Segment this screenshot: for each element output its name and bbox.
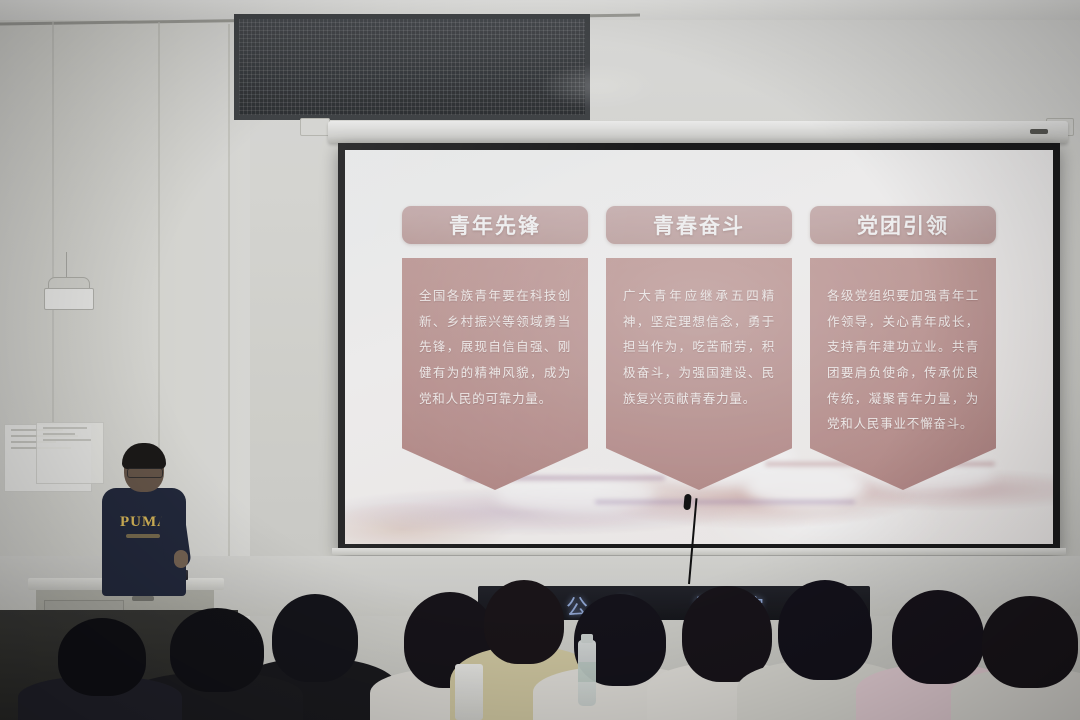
card-body-panel: 全国各族青年要在科技创新、乡村振兴等领域勇当先锋，展现自信自强、刚健有为的精神风… [402, 258, 588, 490]
slide-card: 青年先锋 全国各族青年要在科技创新、乡村振兴等领域勇当先锋，展现自信自强、刚健有… [402, 206, 588, 544]
screen-housing-knob [1030, 129, 1048, 134]
presenter: PUMA [96, 446, 188, 596]
emergency-light-cord [66, 252, 67, 278]
presentation-slide: 青年先锋 全国各族青年要在科技创新、乡村振兴等领域勇当先锋，展现自信自强、刚健有… [345, 150, 1053, 544]
card-heading-banner: 青春奋斗 [606, 206, 792, 244]
card-body-text: 全国各族青年要在科技创新、乡村振兴等领域勇当先锋，展现自信自强、刚健有为的精神风… [402, 258, 588, 458]
wall-seam-left [52, 22, 54, 452]
card-body-text: 广大青年应继承五四精神，坚定理想信念，勇于担当作为，吃苦耐劳，积极奋斗，为强国建… [606, 258, 792, 458]
card-heading-text: 青春奋斗 [653, 210, 745, 240]
card-heading-text: 党团引领 [857, 210, 949, 240]
wall-seam-mid [158, 22, 160, 452]
presenter-hand [174, 550, 188, 568]
wall-notice-right [36, 422, 104, 484]
card-body-text: 各级党组织要加强青年工作领导，关心青年成长，支持青年建功立业。共青团要肩负使命，… [810, 258, 996, 484]
card-heading-banner: 青年先锋 [402, 206, 588, 244]
wall-corner [228, 24, 230, 584]
lectern-handle [132, 596, 154, 601]
projection-screen: 青年先锋 全国各族青年要在科技创新、乡村振兴等领域勇当先锋，展现自信自强、刚健有… [338, 143, 1060, 551]
screen-bottom-bar [332, 548, 1066, 555]
audience-member [972, 602, 1080, 720]
slide-card-row: 青年先锋 全国各族青年要在科技创新、乡村振兴等领域勇当先锋，展现自信自强、刚健有… [345, 150, 1053, 544]
slide-card: 青春奋斗 广大青年应继承五四精神，坚定理想信念，勇于担当作为，吃苦耐劳，积极奋斗… [606, 206, 792, 544]
card-body-panel: 广大青年应继承五四精神，坚定理想信念，勇于担当作为，吃苦耐劳，积极奋斗，为强国建… [606, 258, 792, 490]
emergency-light [44, 288, 94, 310]
projector-screen-housing [328, 121, 1068, 143]
paper-cup [455, 664, 483, 720]
card-heading-text: 青年先锋 [449, 210, 541, 240]
glasses-icon [127, 468, 163, 478]
presenter-hair [122, 443, 166, 469]
water-bottle-label [578, 662, 596, 682]
card-heading-banner: 党团引领 [810, 206, 996, 244]
audience-member [40, 624, 160, 720]
lecture-hall-photo: 青年先锋 全国各族青年要在科技创新、乡村振兴等领域勇当先锋，展现自信自强、刚健有… [0, 0, 1080, 720]
ceiling-vent-panel [234, 14, 590, 120]
card-body-panel: 各级党组织要加强青年工作领导，关心青年成长，支持青年建功立业。共青团要肩负使命，… [810, 258, 996, 490]
vent-highlight [539, 63, 659, 109]
water-bottle-cap [581, 634, 593, 643]
slide-card: 党团引领 各级党组织要加强青年工作领导，关心青年成长，支持青年建功立业。共青团要… [810, 206, 996, 544]
screen-bracket-left [300, 118, 330, 136]
shirt-logo-underline [126, 534, 160, 538]
